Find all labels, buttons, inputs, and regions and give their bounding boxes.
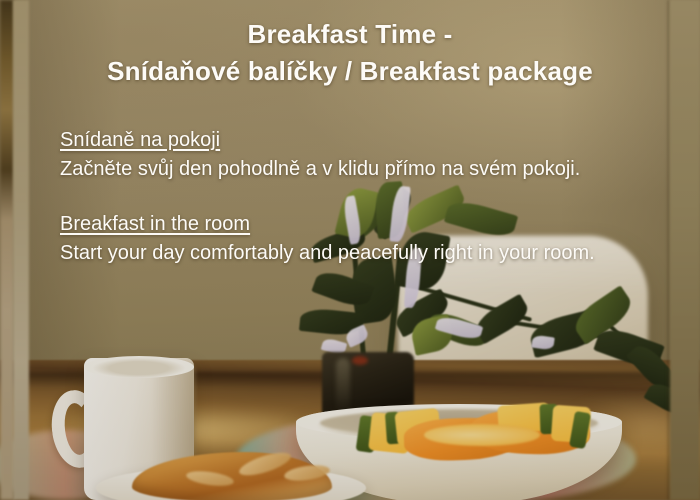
- breakfast-poster: Breakfast Time - Snídaňové balíčky / Bre…: [0, 0, 700, 500]
- section-heading-english: Breakfast in the room: [60, 210, 250, 238]
- section-english: Breakfast in the room Start your day com…: [60, 210, 660, 268]
- page-title: Breakfast Time - Snídaňové balíčky / Bre…: [0, 16, 700, 91]
- title-line-2: Snídaňové balíčky / Breakfast package: [24, 53, 676, 90]
- section-body-czech: Začněte svůj den pohodlně a v klidu přím…: [60, 155, 660, 183]
- section-czech: Snídaně na pokoji Začněte svůj den pohod…: [60, 126, 660, 184]
- text-overlay: Breakfast Time - Snídaňové balíčky / Bre…: [0, 0, 700, 500]
- section-body-english: Start your day comfortably and peacefull…: [60, 239, 660, 267]
- title-line-1: Breakfast Time -: [247, 19, 452, 49]
- section-heading-czech: Snídaně na pokoji: [60, 126, 220, 154]
- body-content: Snídaně na pokoji Začněte svůj den pohod…: [60, 126, 660, 268]
